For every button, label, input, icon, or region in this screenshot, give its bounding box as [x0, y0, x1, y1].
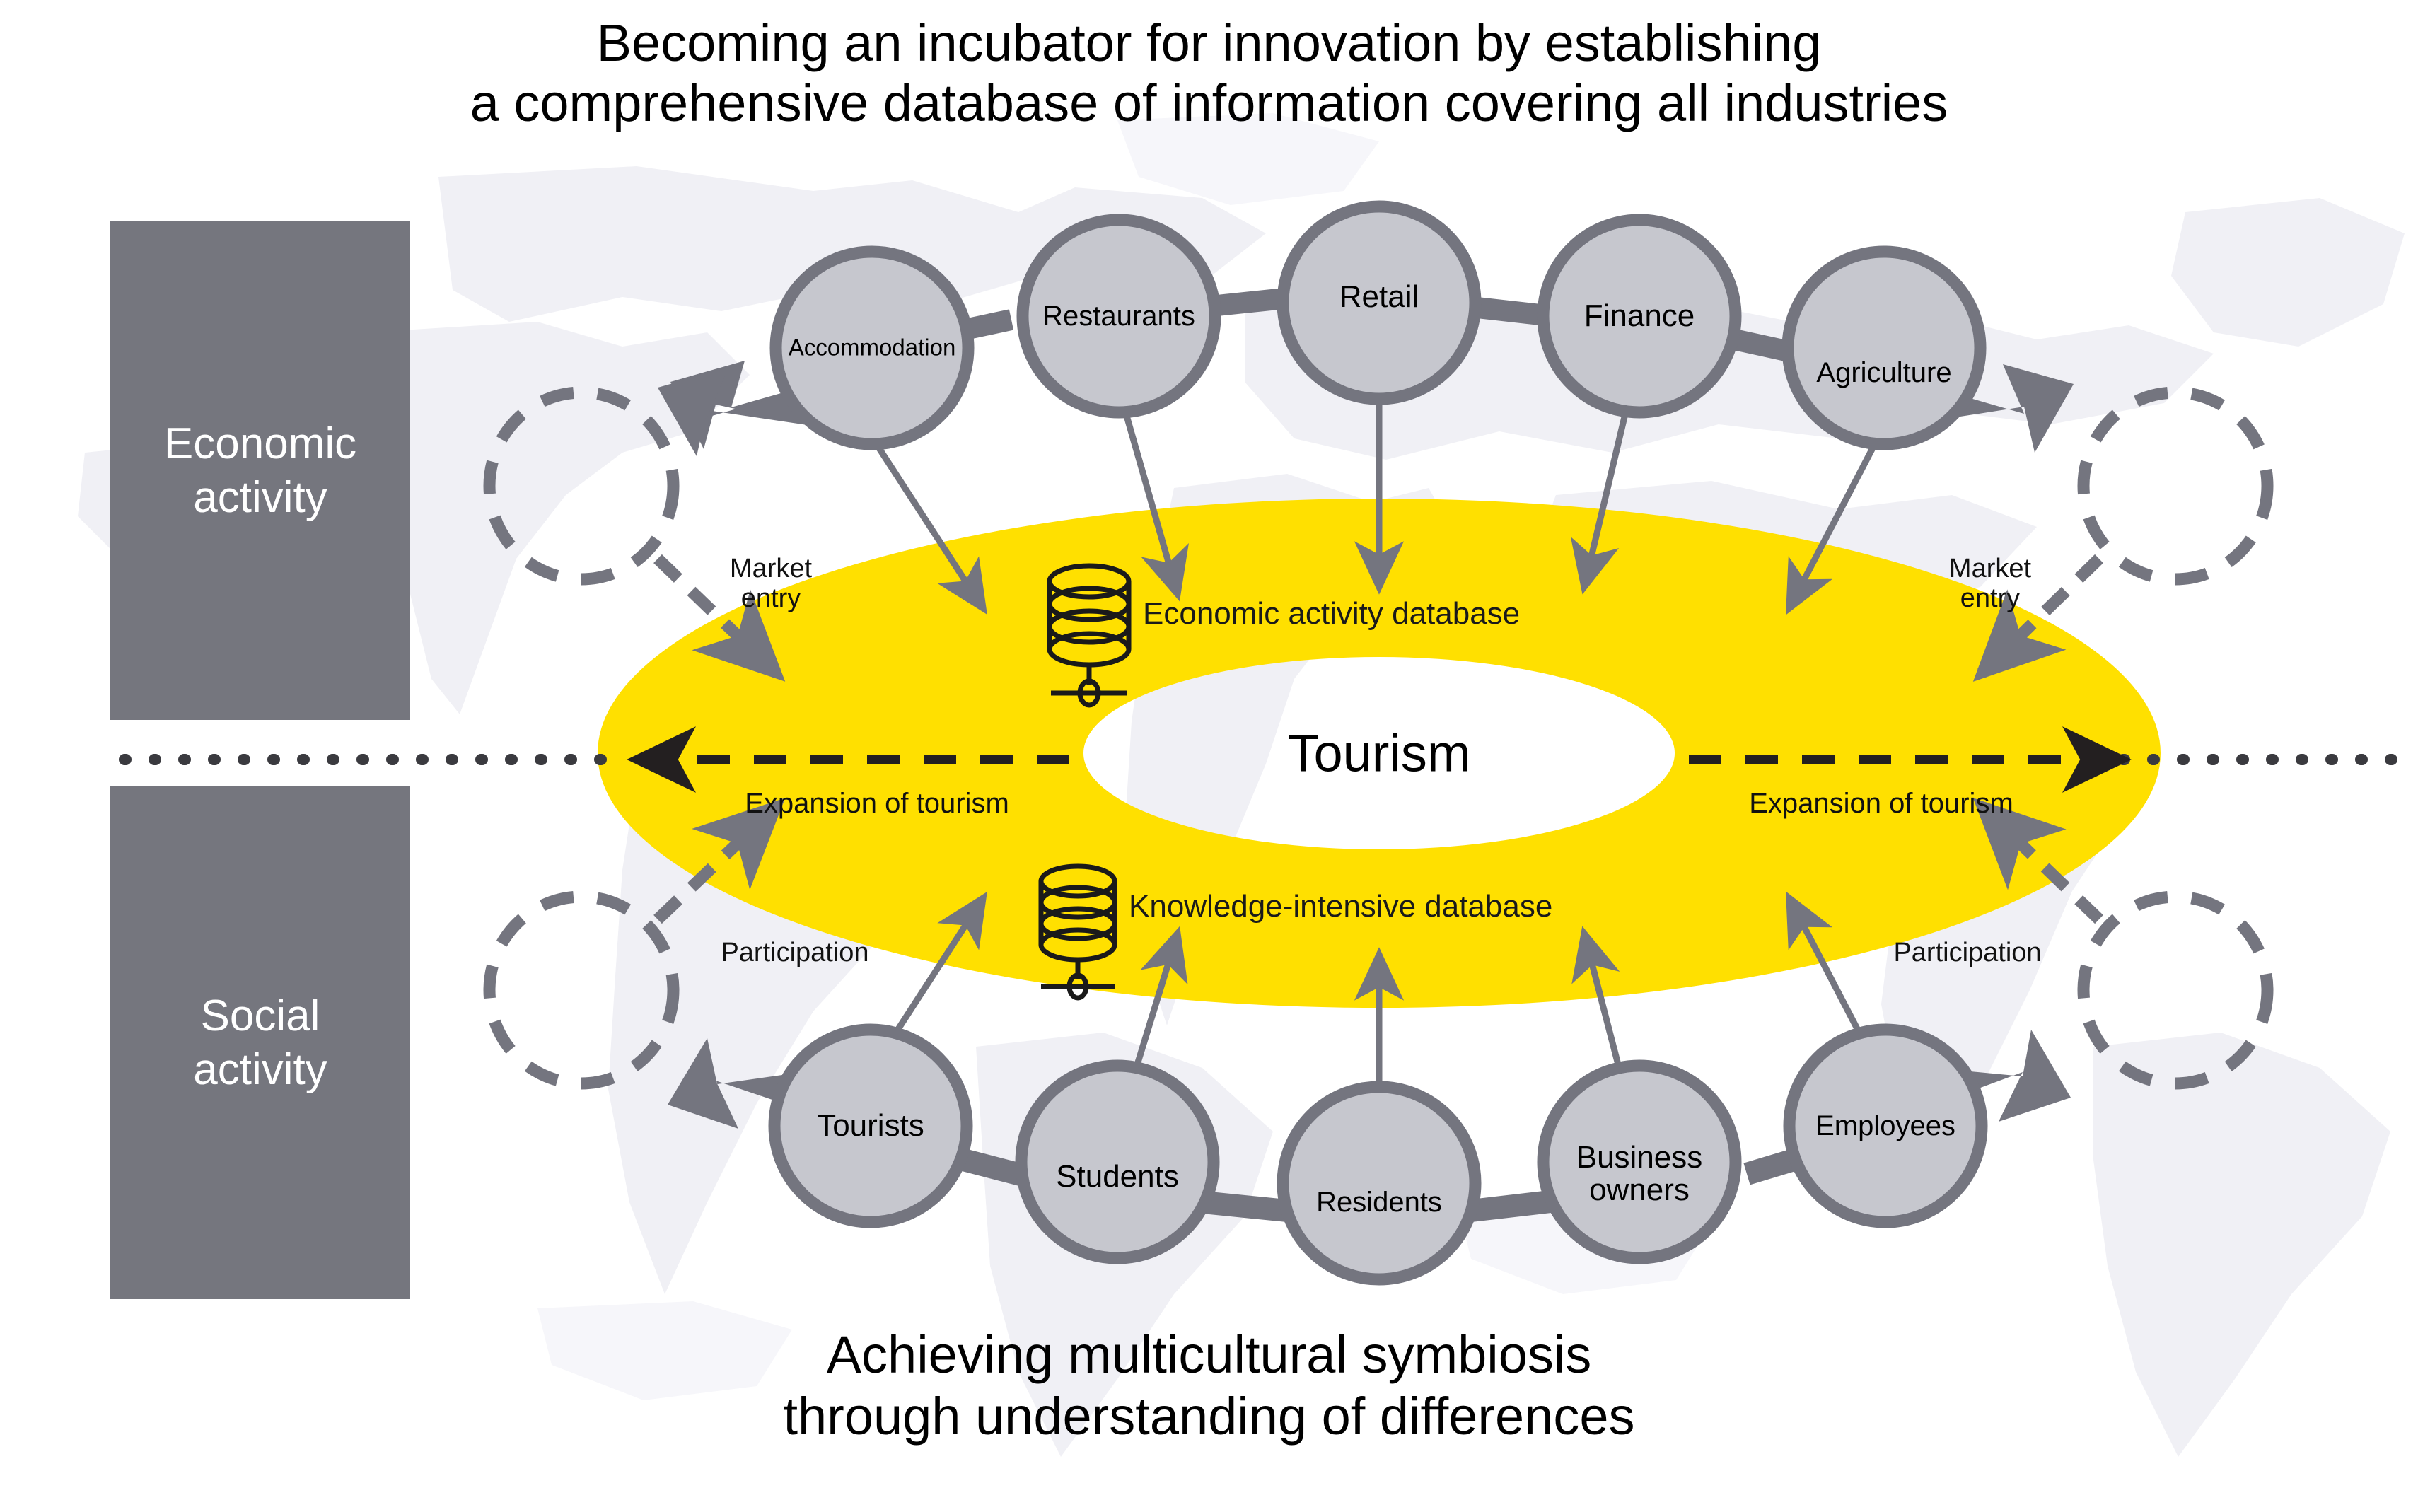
center-tourism-label: Tourism	[1287, 723, 1470, 784]
database-label-knowledge: Knowledge-intensive database	[1129, 889, 1552, 924]
node-tourists	[774, 1030, 967, 1222]
node-restaurants	[1023, 220, 1215, 412]
node-accommodation	[776, 252, 968, 444]
dashed-circle-soc-left	[489, 897, 673, 1083]
node-students	[1021, 1066, 1214, 1258]
flow-label-market-entry-left: Market entry	[730, 554, 812, 614]
node-employees	[1789, 1030, 1982, 1222]
diagram-canvas: Becoming an incubator for innovation by …	[0, 0, 2418, 1512]
dashed-circle-soc-right	[2083, 897, 2267, 1083]
database-icon-economic	[1050, 566, 1129, 705]
flow-label-participation-left: Participation	[721, 938, 868, 968]
sidebar-label-social-activity: Social activity	[110, 786, 410, 1299]
dashed-circle-econ-right	[2083, 392, 2267, 579]
node-finance	[1543, 220, 1736, 412]
node-residents	[1283, 1087, 1475, 1279]
node-retail	[1283, 207, 1475, 399]
flow-label-market-entry-right: Market entry	[1949, 554, 2031, 614]
database-label-economic: Economic activity database	[1143, 596, 1520, 632]
node-agriculture	[1788, 252, 1980, 444]
page-title-top: Becoming an incubator for innovation by …	[0, 13, 2418, 133]
dashed-circle-econ-left	[489, 392, 673, 579]
node-business-owners	[1543, 1066, 1736, 1258]
flow-label-expansion-right: Expansion of tourism	[1749, 788, 2013, 819]
page-title-bottom: Achieving multicultural symbiosis throug…	[0, 1324, 2418, 1448]
economic-inflow-arrows	[873, 382, 1878, 608]
sidebar-label-economic-activity: Economic activity	[110, 221, 410, 720]
flow-label-expansion-left: Expansion of tourism	[745, 788, 1009, 819]
flow-label-participation-right: Participation	[1893, 938, 2041, 968]
database-icon-knowledge	[1041, 866, 1115, 998]
